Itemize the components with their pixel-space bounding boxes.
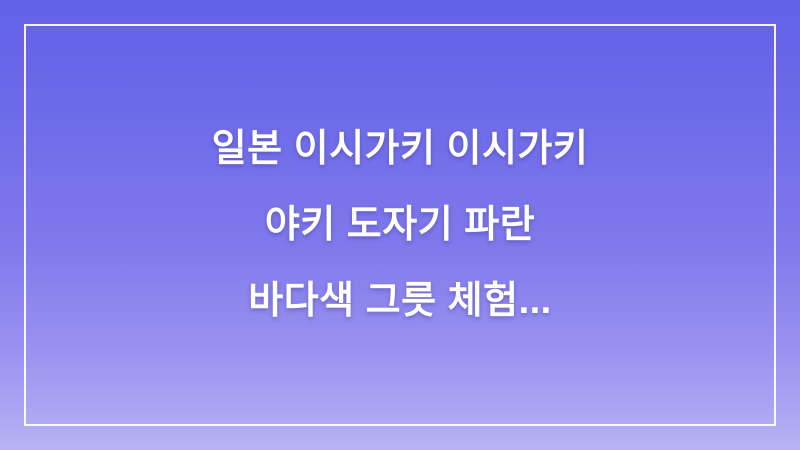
title-line-1: 일본 이시가키 이시가키 <box>60 111 740 187</box>
banner-title: 일본 이시가키 이시가키 야키 도자기 파란 바다색 그릇 체험... <box>0 111 800 339</box>
title-line-3: 바다색 그릇 체험... <box>60 263 740 339</box>
title-line-2: 야키 도자기 파란 <box>60 187 740 263</box>
promo-banner: 일본 이시가키 이시가키 야키 도자기 파란 바다색 그릇 체험... <box>0 0 800 450</box>
